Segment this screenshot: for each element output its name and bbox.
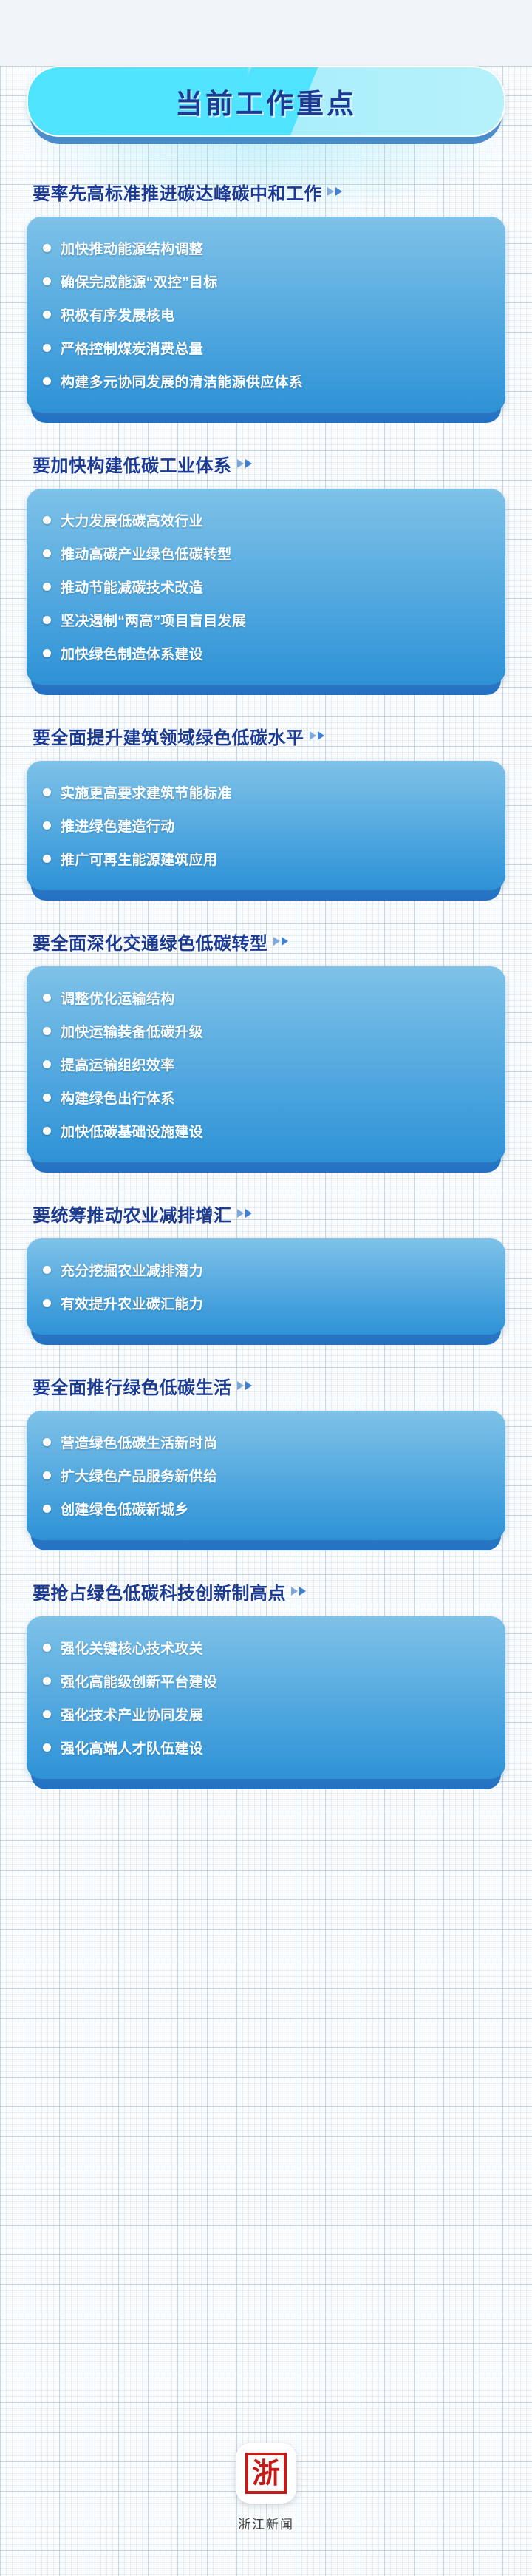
chevron-double-right-icon: [273, 937, 288, 947]
triangle-right-icon: [237, 1381, 244, 1390]
chevron-double-right-icon: [310, 731, 324, 742]
list-item-label: 推进绿色建造行动: [61, 816, 174, 835]
list-item: 加快推动能源结构调整: [43, 231, 489, 265]
triangle-right-icon: [318, 731, 324, 740]
list-item: 有效提升农业碳汇能力: [43, 1287, 489, 1320]
card-surface: 大力发展低碳高效行业推动高碳产业绿色低碳转型推动节能减碳技术改造坚决遏制“两高”…: [27, 489, 505, 685]
list-item: 推广可再生能源建筑应用: [43, 842, 489, 875]
list-item: 推进绿色建造行动: [43, 809, 489, 842]
list-item: 加快运输装备低碳升级: [43, 1014, 489, 1048]
section-2: 要加快构建低碳工业体系大力发展低碳高效行业推动高碳产业绿色低碳转型推动节能减碳技…: [27, 451, 505, 685]
list-item: 调整优化运输结构: [43, 981, 489, 1014]
seal-icon: 浙: [245, 2453, 287, 2494]
section-heading-text: 要全面深化交通绿色低碳转型: [33, 929, 268, 955]
card-surface: 强化关键核心技术攻关强化高能级创新平台建设强化技术产业协同发展强化高端人才队伍建…: [27, 1616, 505, 1779]
list-item-label: 实施更高要求建筑节能标准: [61, 782, 232, 802]
list-item: 加快绿色制造体系建设: [43, 637, 489, 670]
bullet-dot-icon: [43, 1743, 51, 1752]
list-item: 构建绿色出行体系: [43, 1081, 489, 1114]
section-heading-text: 要加快构建低碳工业体系: [33, 451, 232, 477]
list-item-label: 调整优化运输结构: [61, 988, 174, 1008]
card-surface: 调整优化运输结构加快运输装备低碳升级提高运输组织效率构建绿色出行体系加快低碳基础…: [27, 966, 505, 1162]
bullet-dot-icon: [43, 855, 51, 863]
list-item: 大力发展低碳高效行业: [43, 504, 489, 537]
list-item-label: 加快运输装备低碳升级: [61, 1021, 203, 1041]
list-item-label: 推动节能减碳技术改造: [61, 577, 203, 597]
list-item-label: 大力发展低碳高效行业: [61, 510, 203, 530]
chevron-double-right-icon: [291, 1587, 306, 1597]
chevron-double-right-icon: [237, 1381, 252, 1392]
section-heading-text: 要全面推行绿色低碳生活: [33, 1373, 232, 1399]
infographic-content: 当前工作重点 要率先高标准推进碳达峰碳中和工作加快推动能源结构调整确保完成能源“…: [0, 66, 532, 1779]
bullet-dot-icon: [43, 1471, 51, 1479]
list-item-label: 确保完成能源“双控”目标: [61, 271, 218, 291]
list-item: 扩大绿色产品服务新供给: [43, 1459, 489, 1492]
section-7: 要抢占绿色低碳科技创新制高点强化关键核心技术攻关强化高能级创新平台建设强化技术产…: [27, 1579, 505, 1779]
section-heading: 要全面深化交通绿色低碳转型: [27, 929, 505, 955]
triangle-right-icon: [245, 459, 252, 468]
list-item-label: 创建绿色低碳新城乡: [61, 1499, 189, 1519]
bullet-dot-icon: [43, 1644, 51, 1652]
bullet-dot-icon: [43, 1060, 51, 1068]
bullet-dot-icon: [43, 583, 51, 591]
header-banner: 当前工作重点: [27, 66, 505, 137]
list-item: 强化关键核心技术攻关: [43, 1631, 489, 1664]
section-heading: 要率先高标准推进碳达峰碳中和工作: [27, 179, 505, 205]
list-item-label: 构建绿色出行体系: [61, 1088, 174, 1108]
list-item: 推动高碳产业绿色低碳转型: [43, 537, 489, 570]
section-card: 加快推动能源结构调整确保完成能源“双控”目标积极有序发展核电严格控制煤炭消费总量…: [27, 217, 505, 413]
list-item-label: 强化高端人才队伍建设: [61, 1738, 203, 1758]
list-item-label: 强化高能级创新平台建设: [61, 1671, 217, 1691]
section-card: 实施更高要求建筑节能标准推进绿色建造行动推广可再生能源建筑应用: [27, 761, 505, 890]
section-heading: 要抢占绿色低碳科技创新制高点: [27, 1579, 505, 1604]
list-item: 严格控制煤炭消费总量: [43, 331, 489, 365]
card-surface: 充分挖掘农业减排潜力有效提升农业碳汇能力: [27, 1238, 505, 1335]
section-heading-text: 要全面提升建筑领域绿色低碳水平: [33, 723, 304, 749]
bullet-dot-icon: [43, 1027, 51, 1035]
list-item: 强化技术产业协同发展: [43, 1698, 489, 1731]
section-heading-text: 要抢占绿色低碳科技创新制高点: [33, 1579, 286, 1604]
section-heading: 要全面推行绿色低碳生活: [27, 1373, 505, 1399]
list-item-label: 构建多元协同发展的清洁能源供应体系: [61, 371, 303, 391]
zhejiang-news-logo: 浙: [236, 2443, 296, 2504]
triangle-right-icon: [335, 187, 342, 196]
list-item: 实施更高要求建筑节能标准: [43, 776, 489, 809]
list-item: 强化高端人才队伍建设: [43, 1731, 489, 1764]
bullet-dot-icon: [43, 277, 51, 285]
list-item-label: 强化关键核心技术攻关: [61, 1638, 203, 1658]
bullet-dot-icon: [43, 516, 51, 524]
list-item: 提高运输组织效率: [43, 1048, 489, 1081]
bullet-dot-icon: [43, 1127, 51, 1135]
list-item-label: 营造绿色低碳生活新时尚: [61, 1432, 217, 1452]
sections-container: 要率先高标准推进碳达峰碳中和工作加快推动能源结构调整确保完成能源“双控”目标积极…: [0, 179, 532, 1779]
triangle-right-icon: [299, 1587, 306, 1596]
list-item-label: 推动高碳产业绿色低碳转型: [61, 543, 232, 563]
section-5: 要统筹推动农业减排增汇充分挖掘农业减排潜力有效提升农业碳汇能力: [27, 1201, 505, 1335]
triangle-right-icon: [245, 1381, 252, 1390]
bullet-dot-icon: [43, 616, 51, 624]
section-1: 要率先高标准推进碳达峰碳中和工作加快推动能源结构调整确保完成能源“双控”目标积极…: [27, 179, 505, 413]
bullet-dot-icon: [43, 1299, 51, 1307]
list-item: 营造绿色低碳生活新时尚: [43, 1426, 489, 1459]
list-item: 坚决遏制“两高”项目盲目发展: [43, 603, 489, 637]
section-heading: 要加快构建低碳工业体系: [27, 451, 505, 477]
triangle-right-icon: [245, 1209, 252, 1218]
list-item-label: 积极有序发展核电: [61, 305, 174, 325]
section-card: 大力发展低碳高效行业推动高碳产业绿色低碳转型推动节能减碳技术改造坚决遏制“两高”…: [27, 489, 505, 685]
bullet-dot-icon: [43, 1094, 51, 1102]
footer: 浙 浙江新闻: [0, 2443, 532, 2532]
bullet-dot-icon: [43, 994, 51, 1002]
bullet-dot-icon: [43, 821, 51, 830]
bullet-dot-icon: [43, 1266, 51, 1274]
list-item: 强化高能级创新平台建设: [43, 1664, 489, 1698]
card-surface: 加快推动能源结构调整确保完成能源“双控”目标积极有序发展核电严格控制煤炭消费总量…: [27, 217, 505, 413]
section-card: 充分挖掘农业减排潜力有效提升农业碳汇能力: [27, 1238, 505, 1335]
list-item-label: 加快推动能源结构调整: [61, 238, 203, 258]
page-title: 当前工作重点: [27, 66, 505, 137]
section-heading-text: 要统筹推动农业减排增汇: [33, 1201, 232, 1227]
list-item-label: 推广可再生能源建筑应用: [61, 849, 217, 869]
bullet-dot-icon: [43, 1677, 51, 1685]
section-heading-text: 要率先高标准推进碳达峰碳中和工作: [33, 179, 322, 205]
section-6: 要全面推行绿色低碳生活营造绿色低碳生活新时尚扩大绿色产品服务新供给创建绿色低碳新…: [27, 1373, 505, 1540]
list-item-label: 扩大绿色产品服务新供给: [61, 1465, 217, 1485]
list-item-label: 有效提升农业碳汇能力: [61, 1293, 203, 1313]
triangle-right-icon: [237, 1209, 244, 1218]
bullet-dot-icon: [43, 1710, 51, 1718]
bullet-dot-icon: [43, 549, 51, 557]
bullet-dot-icon: [43, 244, 51, 252]
list-item: 推动节能减碳技术改造: [43, 570, 489, 603]
bullet-dot-icon: [43, 788, 51, 796]
bullet-dot-icon: [43, 344, 51, 352]
triangle-right-icon: [237, 459, 244, 468]
card-surface: 营造绿色低碳生活新时尚扩大绿色产品服务新供给创建绿色低碳新城乡: [27, 1411, 505, 1540]
section-3: 要全面提升建筑领域绿色低碳水平实施更高要求建筑节能标准推进绿色建造行动推广可再生…: [27, 723, 505, 890]
chevron-double-right-icon: [327, 187, 342, 197]
list-item: 积极有序发展核电: [43, 298, 489, 331]
triangle-right-icon: [282, 937, 288, 946]
footer-label: 浙江新闻: [238, 2514, 294, 2532]
list-item-label: 提高运输组织效率: [61, 1054, 174, 1074]
bullet-dot-icon: [43, 311, 51, 319]
list-item: 加快低碳基础设施建设: [43, 1114, 489, 1148]
triangle-right-icon: [327, 187, 334, 196]
triangle-right-icon: [291, 1587, 298, 1596]
chevron-double-right-icon: [237, 459, 252, 470]
bullet-dot-icon: [43, 377, 51, 385]
triangle-right-icon: [310, 731, 316, 740]
list-item-label: 充分挖掘农业减排潜力: [61, 1260, 203, 1280]
chevron-double-right-icon: [237, 1209, 252, 1219]
section-card: 强化关键核心技术攻关强化高能级创新平台建设强化技术产业协同发展强化高端人才队伍建…: [27, 1616, 505, 1779]
triangle-right-icon: [273, 937, 280, 946]
list-item: 充分挖掘农业减排潜力: [43, 1253, 489, 1287]
section-4: 要全面深化交通绿色低碳转型调整优化运输结构加快运输装备低碳升级提高运输组织效率构…: [27, 929, 505, 1162]
list-item-label: 加快低碳基础设施建设: [61, 1121, 203, 1141]
bullet-dot-icon: [43, 1438, 51, 1446]
list-item: 构建多元协同发展的清洁能源供应体系: [43, 365, 489, 398]
list-item: 确保完成能源“双控”目标: [43, 265, 489, 298]
bullet-dot-icon: [43, 1505, 51, 1513]
bullet-dot-icon: [43, 649, 51, 657]
list-item: 创建绿色低碳新城乡: [43, 1492, 489, 1525]
list-item-label: 强化技术产业协同发展: [61, 1704, 203, 1724]
section-card: 营造绿色低碳生活新时尚扩大绿色产品服务新供给创建绿色低碳新城乡: [27, 1411, 505, 1540]
section-heading: 要统筹推动农业减排增汇: [27, 1201, 505, 1227]
list-item-label: 严格控制煤炭消费总量: [61, 338, 203, 358]
list-item-label: 坚决遏制“两高”项目盲目发展: [61, 610, 246, 630]
card-surface: 实施更高要求建筑节能标准推进绿色建造行动推广可再生能源建筑应用: [27, 761, 505, 890]
list-item-label: 加快绿色制造体系建设: [61, 643, 203, 663]
section-card: 调整优化运输结构加快运输装备低碳升级提高运输组织效率构建绿色出行体系加快低碳基础…: [27, 966, 505, 1162]
section-heading: 要全面提升建筑领域绿色低碳水平: [27, 723, 505, 749]
